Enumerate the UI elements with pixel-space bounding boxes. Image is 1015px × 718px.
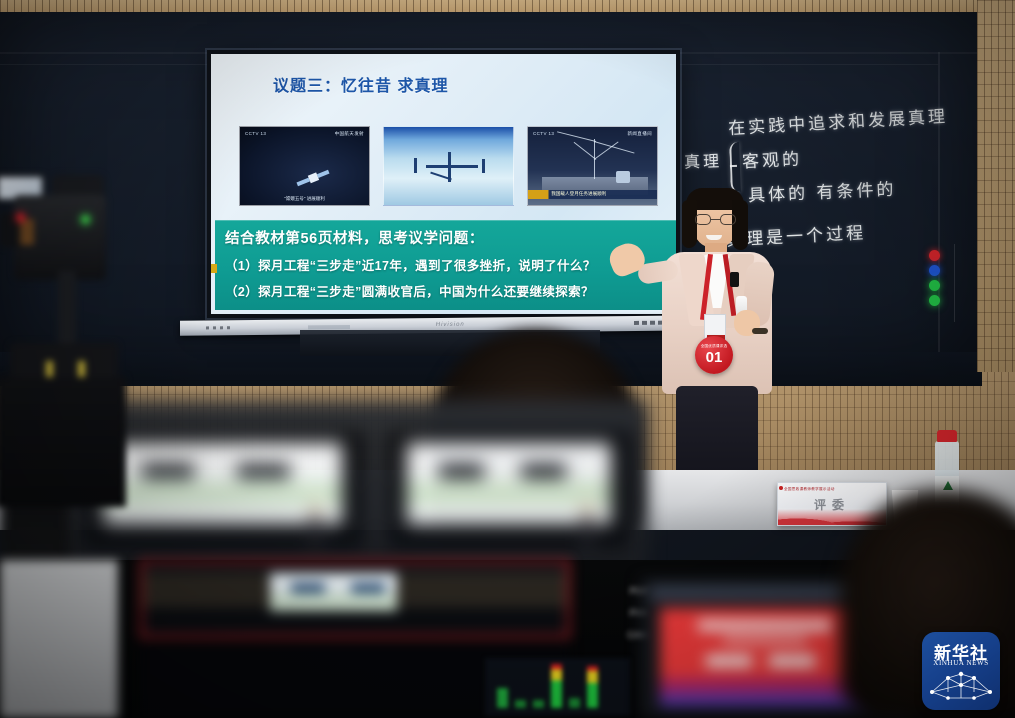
clip-microphone-icon — [730, 272, 739, 287]
contestant-number-badge: 全国优质课评选 01 — [695, 336, 733, 374]
thumbnail-channel-label-2: CCTV 13 — [533, 131, 554, 138]
chalk-line-topic: 真理 — [684, 147, 723, 172]
multiview-labels: PGM PVW CAM1 — [580, 580, 700, 646]
classroom-scene: 在实践中追求和发展真理 真理 客观的 具体的 有条件的 真理是一个过程 议题三：… — [0, 0, 1015, 718]
question-box-marker — [211, 264, 217, 273]
question-box: 结合教材第56页材料，思考议学问题： （1）探月工程“三步走”近17年，遇到了很… — [215, 220, 676, 310]
slide-title: 议题三：忆往昔 求真理 — [273, 72, 448, 96]
led-red-icon — [929, 250, 940, 261]
mouth — [706, 235, 722, 240]
card-decoration — [778, 509, 886, 525]
teacher-figure: 全国优质课评选 01 — [648, 188, 804, 478]
wall-seam — [954, 244, 955, 322]
network-globe-icon — [928, 670, 994, 704]
operator-monitor-body — [640, 578, 910, 718]
hair-side-right — [732, 200, 748, 250]
multiview-tile-grid[interactable] — [140, 642, 570, 718]
chalk-brace — [729, 142, 741, 192]
question-item-1: （1）探月工程“三步走”近17年，遇到了很多挫折，说明了什么？ — [225, 255, 670, 274]
judges-card-header: 全国思政课教师教学展示活动 — [784, 487, 835, 492]
operator-monitor[interactable] — [640, 578, 940, 718]
question-heading: 结合教材第56页材料，思考议学问题： — [225, 227, 670, 248]
thumbnail-satellite: CCTV 13 中国航天发射 "嫦娥五号" 进展顺利 — [239, 126, 370, 206]
left-wall-panel — [0, 560, 118, 718]
multiview-program-tile[interactable] — [140, 560, 570, 638]
slide-image-row: CCTV 13 中国航天发射 "嫦娥五号" 进展顺利 — [239, 126, 659, 206]
foreground-console-shelf — [0, 560, 1015, 718]
thumbnail-space-station — [383, 126, 514, 206]
multiview-monitor[interactable] — [0, 560, 640, 718]
satellite-icon — [293, 161, 333, 194]
presentation-slide: 议题三：忆往昔 求真理 CCTV 13 中国航天发射 "嫦娥五号" 进展顺利 — [211, 54, 676, 314]
display-stand — [300, 330, 600, 356]
side-wood-panel — [977, 0, 1015, 372]
display-brand-logo: Hivision — [436, 322, 465, 328]
wristwatch-icon — [752, 328, 768, 334]
xinhua-news-watermark: 新华社 XINHUA NEWS — [922, 632, 1000, 710]
card-emblem-icon — [779, 486, 783, 490]
operator-monitor-slide — [660, 608, 870, 706]
trousers — [676, 386, 758, 478]
question-item-2: （2）探月工程“三步走”圆满收官后，中国为什么还要继续探索？ — [225, 281, 670, 300]
water-bottle — [933, 430, 961, 522]
news-ticker-text: 我国载人登月任务进展顺利 — [551, 191, 606, 197]
chalk-line-objective: 客观的 — [741, 144, 802, 172]
blackboard-ledge — [0, 352, 982, 386]
led-blue-icon — [929, 265, 940, 276]
watermark-en-text: XINHUA NEWS — [922, 659, 1000, 667]
glasses-icon — [695, 214, 736, 225]
bezel-strip — [308, 325, 350, 329]
thumbnail-corner-label: 中国航天发射 — [335, 131, 364, 137]
multiview-label-pvw: PVW — [580, 602, 700, 624]
interactive-whiteboard[interactable]: 议题三：忆往昔 求真理 CCTV 13 中国航天发射 "嫦娥五号" 进展顺利 — [207, 50, 680, 318]
news-ticker: 我国载人登月任务进展顺利 — [528, 190, 657, 199]
status-led-stack — [929, 250, 943, 310]
led-green-icon — [929, 280, 940, 291]
thumbnail-corner-label-2: 新闻直播间 — [628, 131, 653, 137]
multiview-label-cam1: CAM1 — [580, 624, 700, 646]
judges-table-card: 全国思政课教师教学展示活动 评委 — [777, 482, 887, 526]
lunar-lander-icon — [542, 137, 648, 195]
multiview-label-pgm: PGM — [580, 580, 700, 602]
thumbnail-lunar-lander: CCTV 13 新闻直播间 我国载人登月任务进展顺利 — [527, 126, 658, 206]
thumbnail-caption: "嫦娥五号" 进展顺利 — [240, 196, 369, 202]
thumbnail-channel-label: CCTV 13 — [245, 131, 266, 138]
space-station-icon — [410, 149, 490, 185]
badge-number: 01 — [695, 350, 733, 365]
paper-cup — [890, 490, 920, 538]
audio-level-meters — [485, 658, 630, 716]
led-green-2-icon — [929, 295, 940, 306]
bezel-button-dots[interactable] — [206, 326, 230, 329]
